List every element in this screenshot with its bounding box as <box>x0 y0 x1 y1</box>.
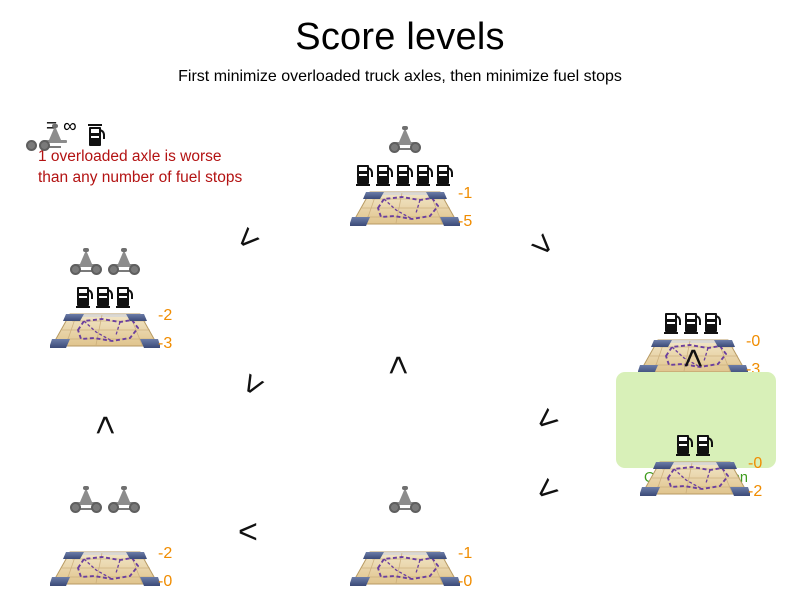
score-soft: -2 <box>748 482 762 501</box>
overloaded-axle-icon <box>388 128 422 154</box>
score-soft: -0 <box>458 572 472 591</box>
solution-node-optimal[interactable] <box>640 394 750 502</box>
fuel-pump-icon <box>697 434 713 456</box>
score-hard: -2 <box>158 544 172 563</box>
solution-node-mid-left[interactable] <box>50 246 160 354</box>
axle-icon-row <box>350 124 460 154</box>
score-hard: -2 <box>158 306 172 325</box>
fuel-pump-icon <box>705 312 721 334</box>
fuel-pump-icon <box>77 286 93 308</box>
fuel-pump-icon <box>665 312 681 334</box>
comparison-operator-op-top-right: < <box>524 226 562 264</box>
fuel-pump-icon-row <box>50 278 160 308</box>
overloaded-axle-icon <box>388 488 422 514</box>
score-hard: -0 <box>746 332 760 351</box>
solution-node-bottom-left[interactable] <box>50 484 160 592</box>
page-title: Score levels <box>0 16 800 59</box>
axle-icon-row <box>50 484 160 514</box>
solution-map-plate[interactable] <box>350 546 460 592</box>
overloaded-axle-icon <box>107 488 141 514</box>
legend: = ∞ 1 overloaded axle is worse than any … <box>38 112 242 188</box>
fuel-pump-icon-row <box>50 516 160 546</box>
legend-note: 1 overloaded axle is worse than any numb… <box>38 146 242 188</box>
fuel-pump-icon <box>97 286 113 308</box>
fuel-pump-icon <box>437 164 453 186</box>
solution-map-plate[interactable] <box>50 546 160 592</box>
score-soft: -0 <box>158 572 172 591</box>
overloaded-axle-icon <box>107 250 141 276</box>
fuel-pump-icon-row <box>350 156 460 186</box>
comparison-operator-op-center: < <box>381 355 415 375</box>
legend-equation: = ∞ <box>38 112 242 140</box>
vehicle-routing-map <box>350 546 460 592</box>
fuel-pump-icon <box>685 312 701 334</box>
vehicle-routing-map <box>50 308 160 354</box>
solution-map-plate[interactable] <box>50 308 160 354</box>
comparison-operator-op-left-lower: < <box>88 415 122 435</box>
score-soft: -3 <box>158 334 172 353</box>
fuel-pump-icon <box>677 434 693 456</box>
comparison-operator-op-top-left: < <box>229 220 267 258</box>
comparison-operator-op-bottom: < <box>238 515 258 549</box>
axle-icon-row <box>350 484 460 514</box>
fuel-pump-icon <box>417 164 433 186</box>
score-hard: -0 <box>748 454 762 473</box>
solution-node-top-center[interactable] <box>350 124 460 232</box>
fuel-pump-icon-row <box>638 304 748 334</box>
vehicle-routing-map <box>350 186 460 232</box>
comparison-operator-op-right-lower: < <box>528 471 565 510</box>
score-hard: -1 <box>458 544 472 563</box>
diagram-canvas: Score levels First minimize overloaded t… <box>0 0 800 600</box>
comparison-operator-op-right-upper: < <box>528 401 565 440</box>
infinity-symbol: ∞ <box>63 117 77 136</box>
overloaded-axle-icon <box>69 488 103 514</box>
comparison-operator-op-optimal: < <box>676 348 710 368</box>
fuel-pump-icon <box>357 164 373 186</box>
score-hard: -1 <box>458 184 472 203</box>
fuel-pump-icon-row <box>350 516 460 546</box>
solution-map-plate[interactable] <box>640 456 750 502</box>
vehicle-routing-map <box>640 456 750 502</box>
axle-icon-row <box>640 394 750 424</box>
fuel-pump-icon <box>117 286 133 308</box>
score-soft: -5 <box>458 212 472 231</box>
vehicle-routing-map <box>50 546 160 592</box>
fuel-pump-icon <box>397 164 413 186</box>
fuel-pump-icon-row <box>640 426 750 456</box>
solution-map-plate[interactable] <box>350 186 460 232</box>
axle-icon-row <box>638 272 748 302</box>
axle-icon-row <box>50 246 160 276</box>
overloaded-axle-icon <box>69 250 103 276</box>
fuel-pump-icon <box>377 164 393 186</box>
page-subtitle: First minimize overloaded truck axles, t… <box>0 66 800 87</box>
solution-node-bottom-center[interactable] <box>350 484 460 592</box>
comparison-operator-op-left-upper: < <box>233 368 272 402</box>
